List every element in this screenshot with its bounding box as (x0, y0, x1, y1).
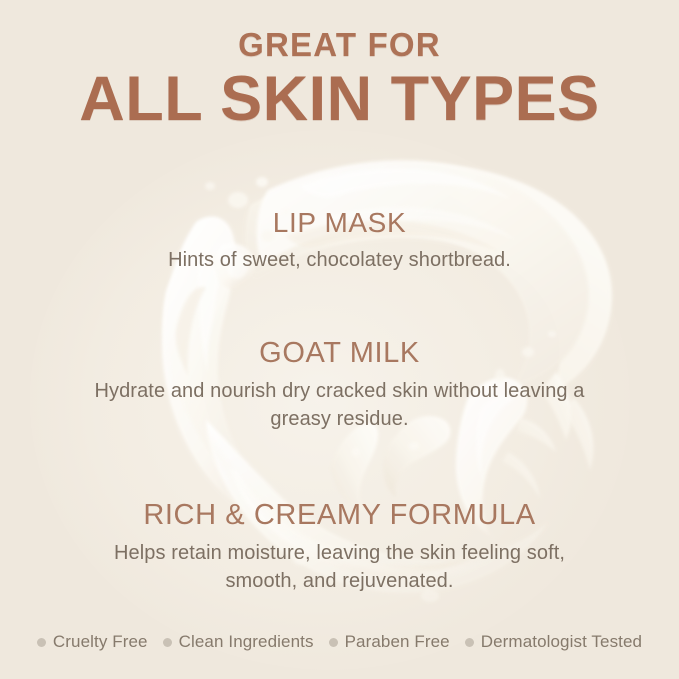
claim-badge-label: Cruelty Free (53, 632, 148, 652)
claim-badge-clean-ingredients: Clean Ingredients (148, 632, 314, 652)
benefit-body-goat-milk: Hydrate and nourish dry cracked skin wit… (80, 377, 600, 434)
page-title: ALL SKIN TYPES (0, 66, 679, 132)
benefit-title-lip-mask: LIP MASK (0, 208, 679, 239)
dot-icon (329, 638, 338, 647)
benefit-body-lip-mask: Hints of sweet, chocolatey shortbread. (60, 246, 620, 274)
content-layer: GREAT FOR ALL SKIN TYPES LIP MASK Hints … (0, 0, 679, 679)
dot-icon (163, 638, 172, 647)
dot-icon (465, 638, 474, 647)
benefit-section-lip-mask: LIP MASK Hints of sweet, chocolatey shor… (0, 208, 679, 274)
benefit-section-rich-creamy-formula: RICH & CREAMY FORMULA Helps retain moist… (0, 500, 679, 596)
claim-badge-label: Dermatologist Tested (481, 632, 642, 652)
claim-badge-label: Paraben Free (345, 632, 450, 652)
benefit-title-rich-creamy-formula: RICH & CREAMY FORMULA (0, 500, 679, 532)
claim-badge-paraben-free: Paraben Free (314, 632, 450, 652)
dot-icon (37, 638, 46, 647)
benefit-body-rich-creamy-formula: Helps retain moisture, leaving the skin … (80, 539, 600, 596)
claims-badge-strip: Cruelty Free Clean Ingredients Paraben F… (0, 632, 679, 652)
benefit-section-goat-milk: GOAT MILK Hydrate and nourish dry cracke… (0, 338, 679, 434)
claim-badge-cruelty-free: Cruelty Free (37, 632, 148, 652)
headline-eyebrow: GREAT FOR (0, 28, 679, 61)
benefit-title-goat-milk: GOAT MILK (0, 338, 679, 370)
claim-badge-label: Clean Ingredients (179, 632, 314, 652)
claim-badge-dermatologist-tested: Dermatologist Tested (450, 632, 642, 652)
product-benefits-panel: GREAT FOR ALL SKIN TYPES LIP MASK Hints … (0, 0, 679, 679)
